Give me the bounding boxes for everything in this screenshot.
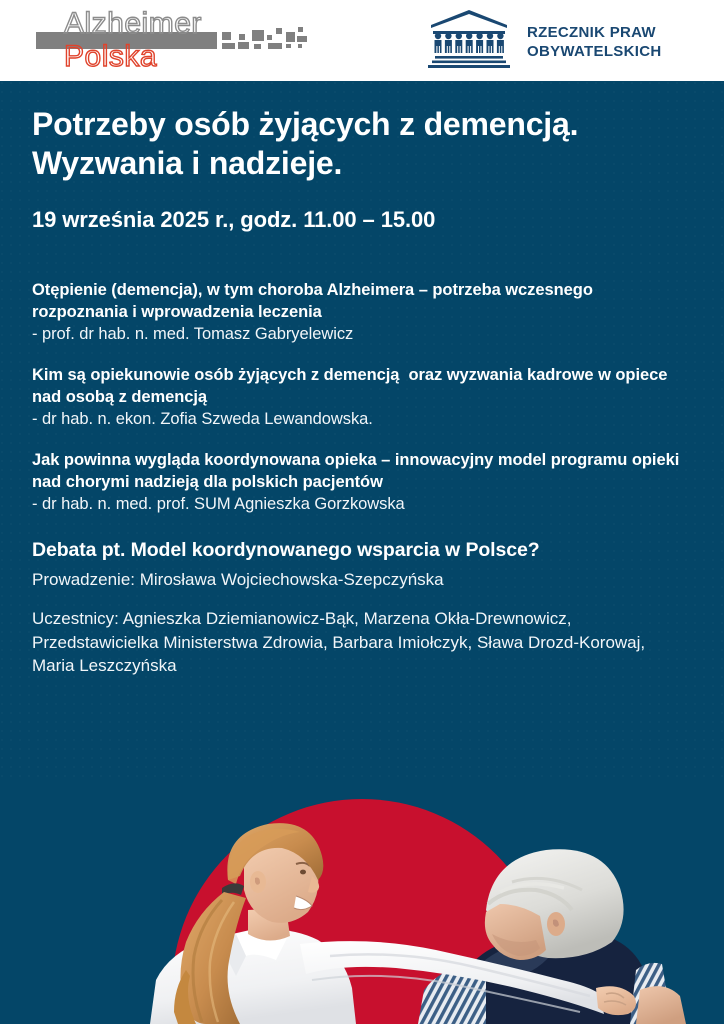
debate-section: Debata pt. Model koordynowanego wsparcia… bbox=[32, 537, 692, 678]
debate-host: Prowadzenie: Mirosława Wojciechowska-Sze… bbox=[32, 568, 692, 591]
rpo-logo-line1: RZECZNIK PRAW bbox=[527, 23, 661, 42]
rpo-building-icon bbox=[425, 9, 513, 71]
alzheimer-polska-logo: Alzheimer Polska bbox=[36, 8, 306, 74]
logo-pixel-block bbox=[276, 28, 282, 34]
rpo-logo-text: RZECZNIK PRAW OBYWATELSKICH bbox=[527, 23, 661, 61]
event-datetime: 19 września 2025 r., godz. 11.00 – 15.00 bbox=[32, 206, 692, 233]
caregiver-photo bbox=[0, 784, 724, 1024]
logo-pixel-block bbox=[298, 44, 302, 48]
session-speaker: - prof. dr hab. n. med. Tomasz Gabryelew… bbox=[32, 323, 692, 345]
session-item: Otępienie (demencja), w tym choroba Alzh… bbox=[32, 279, 692, 345]
session-speaker: - dr hab. n. ekon. Zofia Szweda Lewandow… bbox=[32, 408, 692, 430]
session-title: Kim są opiekunowie osób żyjących z demen… bbox=[32, 364, 692, 408]
logo-polska-text: Polska bbox=[64, 41, 157, 73]
logo-pixel-block bbox=[254, 44, 261, 49]
logo-pixel-block bbox=[222, 32, 231, 40]
logo-alzheimer-text: Alzheimer bbox=[64, 8, 202, 40]
logo-pixel-block bbox=[238, 42, 249, 49]
debate-title: Debata pt. Model koordynowanego wsparcia… bbox=[32, 537, 692, 563]
logo-pixel-block bbox=[268, 43, 282, 49]
page-title-line1: Potrzeby osób żyjących z demencją. bbox=[32, 105, 692, 144]
session-speaker: - dr hab. n. med. prof. SUM Agnieszka Go… bbox=[32, 493, 692, 515]
logo-pixel-block bbox=[297, 36, 307, 42]
poster-body: Potrzeby osób żyjących z demencją. Wyzwa… bbox=[0, 81, 724, 1024]
logo-pixel-block bbox=[252, 30, 264, 41]
session-item: Jak powinna wygląda koordynowana opieka … bbox=[32, 449, 692, 515]
session-title: Otępienie (demencja), w tym choroba Alzh… bbox=[32, 279, 692, 323]
logo-pixel-block bbox=[267, 35, 272, 40]
logo-pixel-block bbox=[222, 43, 235, 49]
caregiver-photo-illustration bbox=[0, 784, 724, 1024]
logo-pixel-block bbox=[286, 44, 291, 48]
header-band: Alzheimer Polska bbox=[0, 0, 724, 81]
debate-participants: Uczestnicy: Agnieszka Dziemianowicz-Bąk,… bbox=[32, 607, 692, 678]
poster-content: Potrzeby osób żyjących z demencją. Wyzwa… bbox=[0, 81, 724, 678]
session-item: Kim są opiekunowie osób żyjących z demen… bbox=[32, 364, 692, 430]
poster-root: Alzheimer Polska bbox=[0, 0, 724, 1024]
page-title: Potrzeby osób żyjących z demencją. Wyzwa… bbox=[32, 105, 692, 183]
rpo-logo-line2: OBYWATELSKICH bbox=[527, 42, 661, 61]
session-list: Otępienie (demencja), w tym choroba Alzh… bbox=[32, 279, 692, 515]
page-title-line2: Wyzwania i nadzieje. bbox=[32, 144, 692, 183]
logo-pixel-block bbox=[239, 34, 245, 40]
logo-pixel-block bbox=[286, 32, 295, 42]
logo-pixel-block bbox=[204, 32, 217, 49]
logo-pixel-block bbox=[298, 27, 303, 32]
rzecznik-praw-obywatelskich-logo: RZECZNIK PRAW OBYWATELSKICH bbox=[425, 9, 685, 73]
session-title: Jak powinna wygląda koordynowana opieka … bbox=[32, 449, 692, 493]
